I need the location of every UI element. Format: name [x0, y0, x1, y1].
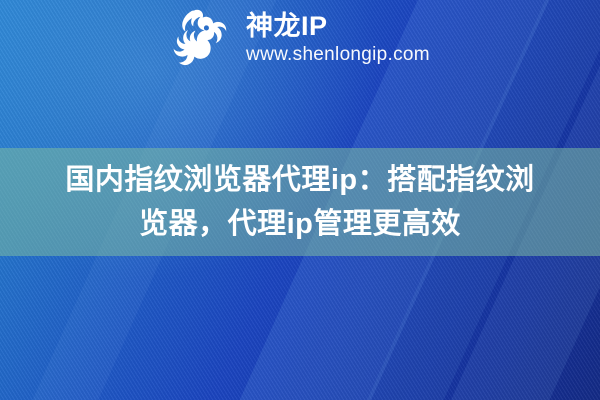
- headline-line-2: 览器，代理ip管理更高效: [139, 202, 461, 246]
- brand-url: www.shenlongip.com: [246, 45, 430, 64]
- promo-banner: 神龙IP www.shenlongip.com 国内指纹浏览器代理ip：搭配指纹…: [0, 0, 600, 400]
- dragon-head-logo-icon: [170, 9, 232, 67]
- brand-header: 神龙IP www.shenlongip.com: [0, 0, 600, 76]
- headline-line-1: 国内指纹浏览器代理ip：搭配指纹浏: [65, 158, 534, 202]
- brand-name: 神龙IP: [246, 13, 430, 40]
- headline-block: 国内指纹浏览器代理ip：搭配指纹浏 览器，代理ip管理更高效: [0, 152, 600, 252]
- brand-text-block: 神龙IP www.shenlongip.com: [246, 13, 430, 64]
